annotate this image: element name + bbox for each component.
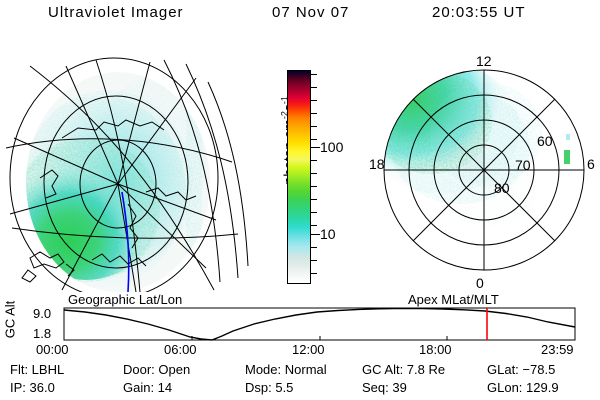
colorbar-minor-tick: [310, 113, 317, 114]
colorbar-major-tick: [310, 147, 320, 148]
status-mode: Mode: Normal: [245, 362, 327, 377]
mlat-label-60: 60: [537, 133, 553, 149]
orbit-altitude-trace: [64, 308, 575, 340]
colorbar-minor-tick: [310, 273, 317, 274]
header-bar: Ultraviolet Imager 07 Nov 07 20:03:55 UT: [0, 4, 600, 30]
orbit-xtick-0000: 00:00: [36, 342, 69, 357]
colorbar-major-tick: [310, 234, 320, 235]
status-gcalt: GC Alt: 7.8 Re: [362, 362, 445, 377]
apex-polar-panel: 12 0 18 6 60 70 80: [368, 42, 600, 292]
mlt-label-6: 6: [587, 156, 595, 172]
status-door: Door: Open: [123, 362, 190, 377]
colorbar-minor-tick: [310, 212, 317, 213]
colorbar-minor-tick: [310, 225, 317, 226]
mlt-label-12: 12: [476, 53, 492, 69]
mlt-spokes: [384, 70, 584, 270]
orbit-xtick-1200: 12:00: [292, 342, 325, 357]
orbit-xtick-2359: 23:59: [541, 342, 574, 357]
status-gain: Gain: 14: [123, 380, 172, 395]
orbit-xtick-0600: 06:00: [164, 342, 197, 357]
colorbar-minor-tick: [310, 173, 317, 174]
colorbar-tick-label-100: 100: [320, 140, 343, 154]
colorbar-group: photon cm-2s-1 100 10: [255, 60, 365, 292]
status-glon: GLon: 129.9: [487, 380, 559, 395]
colorbar-minor-tick: [310, 260, 317, 261]
mlat-label-70: 70: [515, 157, 531, 173]
colorbar-minor-tick: [310, 139, 317, 140]
status-dsp: Dsp: 5.5: [245, 380, 293, 395]
status-footer: Flt: LBHL IP: 36.0 Door: Open Gain: 14 M…: [0, 362, 600, 400]
status-glat: GLat: −78.5: [487, 362, 555, 377]
status-flt: Flt: LBHL: [10, 362, 64, 377]
geographic-globe-panel: [0, 42, 252, 292]
colorbar-tick-label-10: 10: [320, 227, 336, 241]
aurora-emission-globe: [12, 72, 210, 292]
polar-dial-image: 12 0 18 6 60 70 80: [368, 42, 600, 292]
colorbar-minor-tick: [310, 186, 317, 187]
colorbar-minor-tick: [310, 126, 317, 127]
colorbar-minor-tick: [310, 100, 317, 101]
colorbar-gradient: [287, 70, 311, 284]
instrument-title: Ultraviolet Imager: [48, 4, 184, 21]
globe-image: [0, 42, 252, 292]
status-seq: Seq: 39: [362, 380, 407, 395]
colorbar-minor-tick: [310, 160, 317, 161]
observation-date: 07 Nov 07: [272, 4, 349, 21]
colorbar-minor-tick: [310, 199, 317, 200]
observation-time: 20:03:55 UT: [432, 4, 526, 21]
orbit-strip-chart: Geographic Lat/Lon Apex MLat/MLT GC Alt …: [0, 292, 600, 358]
colorbar-minor-tick: [310, 74, 317, 75]
status-ip: IP: 36.0: [10, 380, 55, 395]
mlt-label-0: 0: [476, 275, 484, 291]
mlt-label-18: 18: [369, 156, 385, 172]
mlat-label-80: 80: [494, 180, 510, 196]
orbit-xtick-1800: 18:00: [419, 342, 452, 357]
colorbar-minor-tick: [310, 87, 317, 88]
colorbar-minor-tick: [310, 247, 317, 248]
